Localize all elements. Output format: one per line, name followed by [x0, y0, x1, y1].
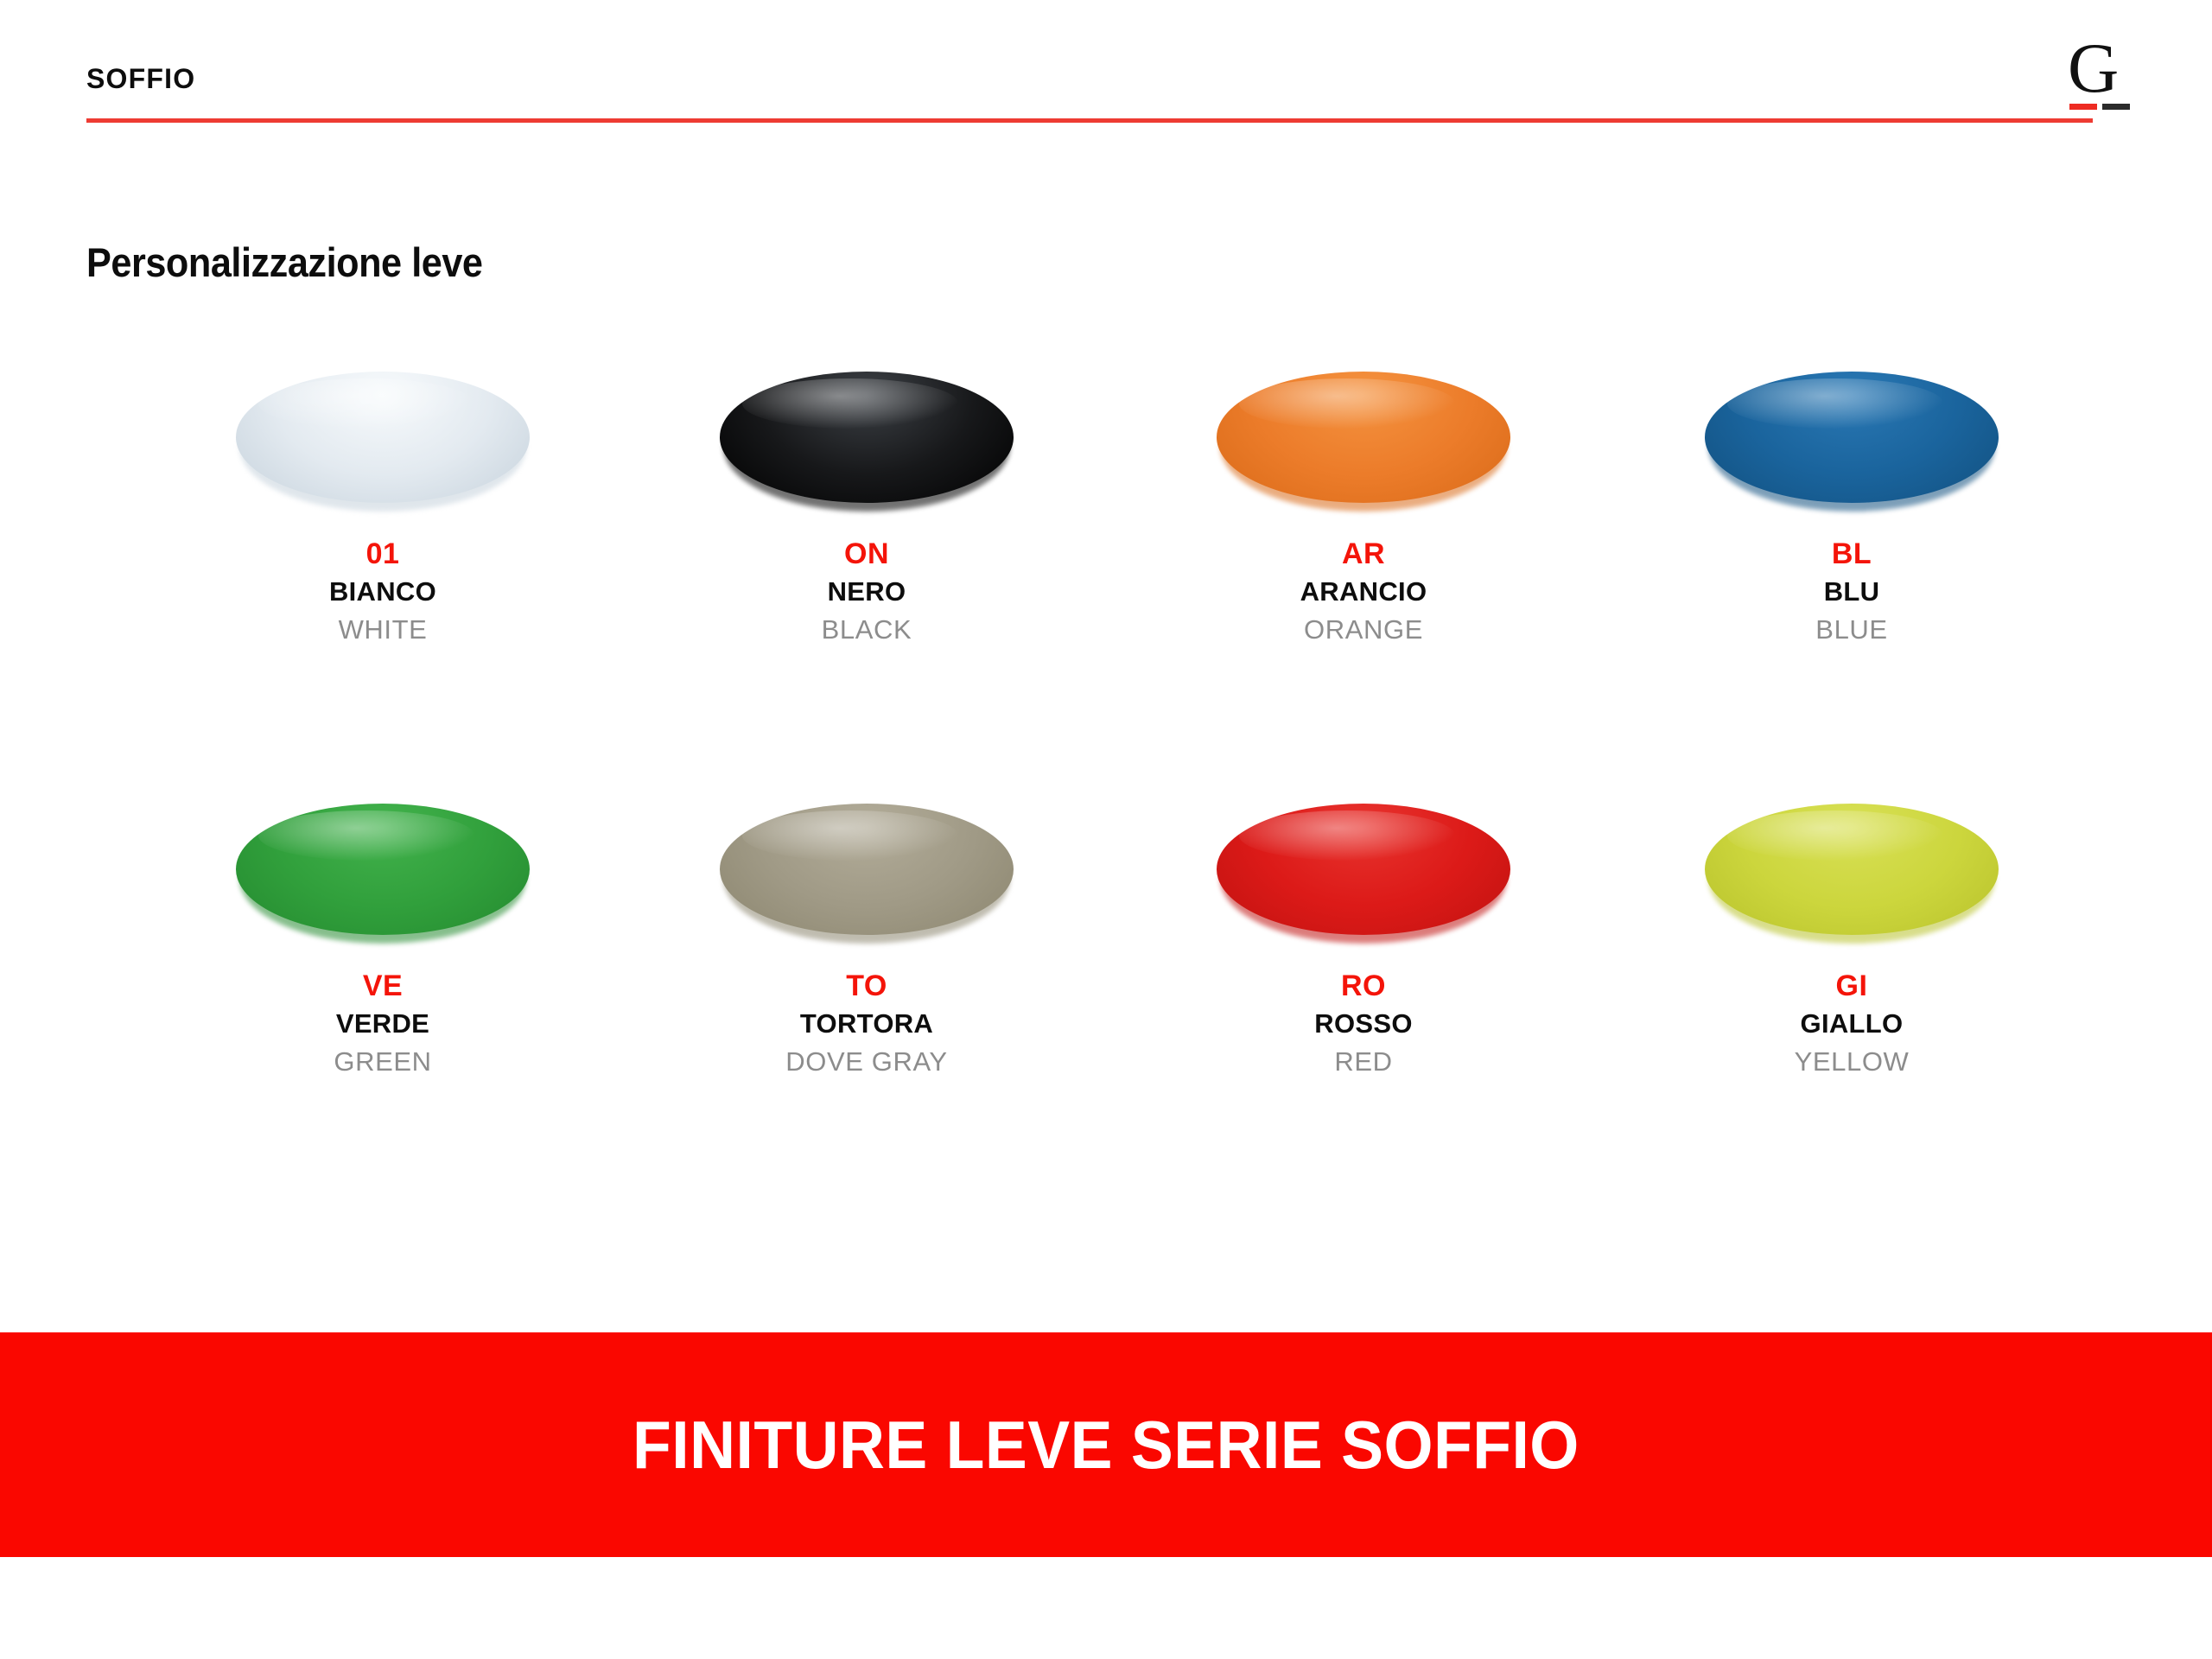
swatch-name-english: BLUE	[1610, 614, 2094, 645]
swatch-item[interactable]: RO ROSSO RED	[1122, 804, 1605, 1077]
swatch-item[interactable]: GI GIALLO YELLOW	[1610, 804, 2094, 1077]
swatch-name-italian: VERDE	[141, 1008, 625, 1039]
swatch-name-english: RED	[1122, 1046, 1605, 1077]
page-header: SOFFIO G	[0, 0, 2212, 138]
swatch-item[interactable]: TO TORTORA DOVE GRAY	[625, 804, 1109, 1077]
swatch-name-english: GREEN	[141, 1046, 625, 1077]
swatch-item[interactable]: AR ARANCIO ORANGE	[1122, 372, 1605, 645]
swatch-name-english: DOVE GRAY	[625, 1046, 1109, 1077]
brand-logo: G	[2068, 41, 2145, 116]
swatch-name-italian: GIALLO	[1610, 1008, 2094, 1039]
brand-letter-g-icon: G	[2068, 33, 2119, 104]
swatch-code: ON	[625, 537, 1109, 571]
section-heading: Personalizzazione leve	[86, 242, 483, 283]
swatch-name-italian: BLU	[1610, 576, 2094, 607]
brand-dash-red-icon	[2069, 104, 2097, 110]
swatch-disc-face	[236, 372, 530, 503]
swatch-disc-face	[236, 804, 530, 935]
swatch-code: VE	[141, 969, 625, 1003]
swatch-code: 01	[141, 537, 625, 571]
swatch-code: TO	[625, 969, 1109, 1003]
swatch-disc-face	[1705, 372, 1999, 503]
swatch-disc[interactable]	[720, 804, 1014, 942]
swatch-disc-face	[1217, 804, 1510, 935]
swatch-name-english: BLACK	[625, 614, 1109, 645]
swatch-item[interactable]: ON NERO BLACK	[625, 372, 1109, 645]
swatch-disc-face	[720, 372, 1014, 503]
swatch-disc-face	[720, 804, 1014, 935]
swatch-row: VE VERDE GREEN TO TORTORA DOVE GRAY RO R…	[0, 804, 2212, 1236]
swatch-name-english: WHITE	[141, 614, 625, 645]
swatch-name-english: YELLOW	[1610, 1046, 2094, 1077]
swatch-disc-face	[1705, 804, 1999, 935]
swatch-disc[interactable]	[236, 804, 530, 942]
page-title: SOFFIO	[86, 65, 195, 92]
swatch-code: AR	[1122, 537, 1605, 571]
swatch-disc[interactable]	[720, 372, 1014, 510]
swatch-item[interactable]: 01 BIANCO WHITE	[141, 372, 625, 645]
swatch-disc[interactable]	[1705, 804, 1999, 942]
swatch-code: BL	[1610, 537, 2094, 571]
swatch-name-italian: ARANCIO	[1122, 576, 1605, 607]
footer-banner: FINITURE LEVE SERIE SOFFIO	[0, 1332, 2212, 1557]
swatch-name-italian: NERO	[625, 576, 1109, 607]
swatch-name-italian: BIANCO	[141, 576, 625, 607]
swatch-name-english: ORANGE	[1122, 614, 1605, 645]
color-swatch-grid: 01 BIANCO WHITE ON NERO BLACK AR ARANCIO…	[0, 372, 2212, 1236]
swatch-code: GI	[1610, 969, 2094, 1003]
brand-dash-black-icon	[2102, 104, 2130, 110]
swatch-code: RO	[1122, 969, 1605, 1003]
swatch-disc[interactable]	[1217, 804, 1510, 942]
swatch-row: 01 BIANCO WHITE ON NERO BLACK AR ARANCIO…	[0, 372, 2212, 804]
swatch-item[interactable]: VE VERDE GREEN	[141, 804, 625, 1077]
footer-title: FINITURE LEVE SERIE SOFFIO	[632, 1411, 1580, 1478]
swatch-disc[interactable]	[1705, 372, 1999, 510]
swatch-item[interactable]: BL BLU BLUE	[1610, 372, 2094, 645]
header-divider-rule	[86, 118, 2093, 123]
swatch-disc-face	[1217, 372, 1510, 503]
swatch-disc[interactable]	[1217, 372, 1510, 510]
swatch-name-italian: ROSSO	[1122, 1008, 1605, 1039]
swatch-name-italian: TORTORA	[625, 1008, 1109, 1039]
swatch-disc[interactable]	[236, 372, 530, 510]
